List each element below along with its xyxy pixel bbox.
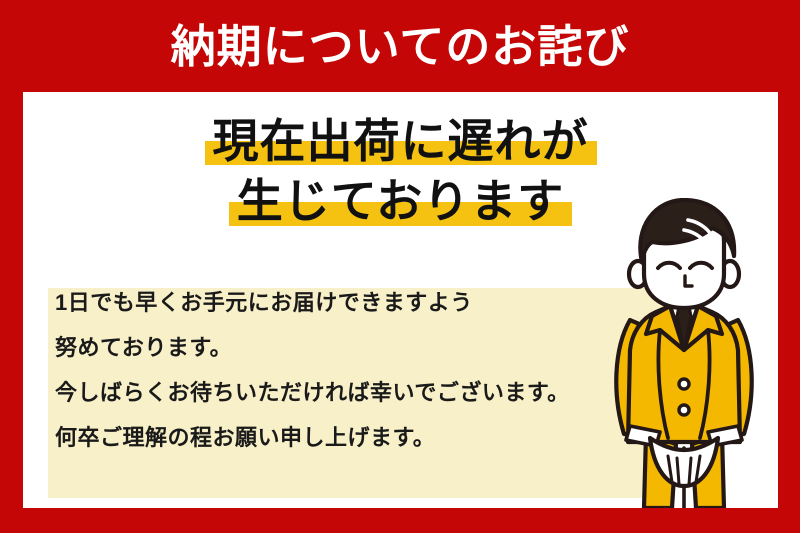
headline-line-2-text: 生じております (237, 175, 565, 227)
apology-notice-banner: 納期についてのお詫び 現在出荷に遅れが 生じております 1日でも早くお手元にお届… (0, 0, 800, 533)
body-line-2: 努めております。 (55, 337, 675, 359)
bowing-businessman-icon (594, 198, 774, 508)
banner-stage: 現在出荷に遅れが 生じております 1日でも早くお手元にお届けできますよう 努めて… (23, 92, 778, 508)
headline-line-1: 現在出荷に遅れが (205, 114, 597, 168)
headline-line-2: 生じております (229, 174, 573, 228)
headline-line-1-text: 現在出荷に遅れが (213, 115, 589, 167)
bowing-businessman-illustration (594, 198, 774, 508)
frame-border-bottom (0, 508, 800, 533)
body-text-block: 1日でも早くお手元にお届けできますよう 努めております。 今しばらくお待ちいただ… (55, 292, 675, 449)
banner-header-title: 納期についてのお詫び (0, 0, 800, 92)
body-line-3: 今しばらくお待ちいただければ幸いでございます。 (55, 382, 675, 404)
body-line-1: 1日でも早くお手元にお届けできますよう (55, 292, 675, 314)
body-line-4: 何卒ご理解の程お願い申し上げます。 (55, 427, 675, 449)
